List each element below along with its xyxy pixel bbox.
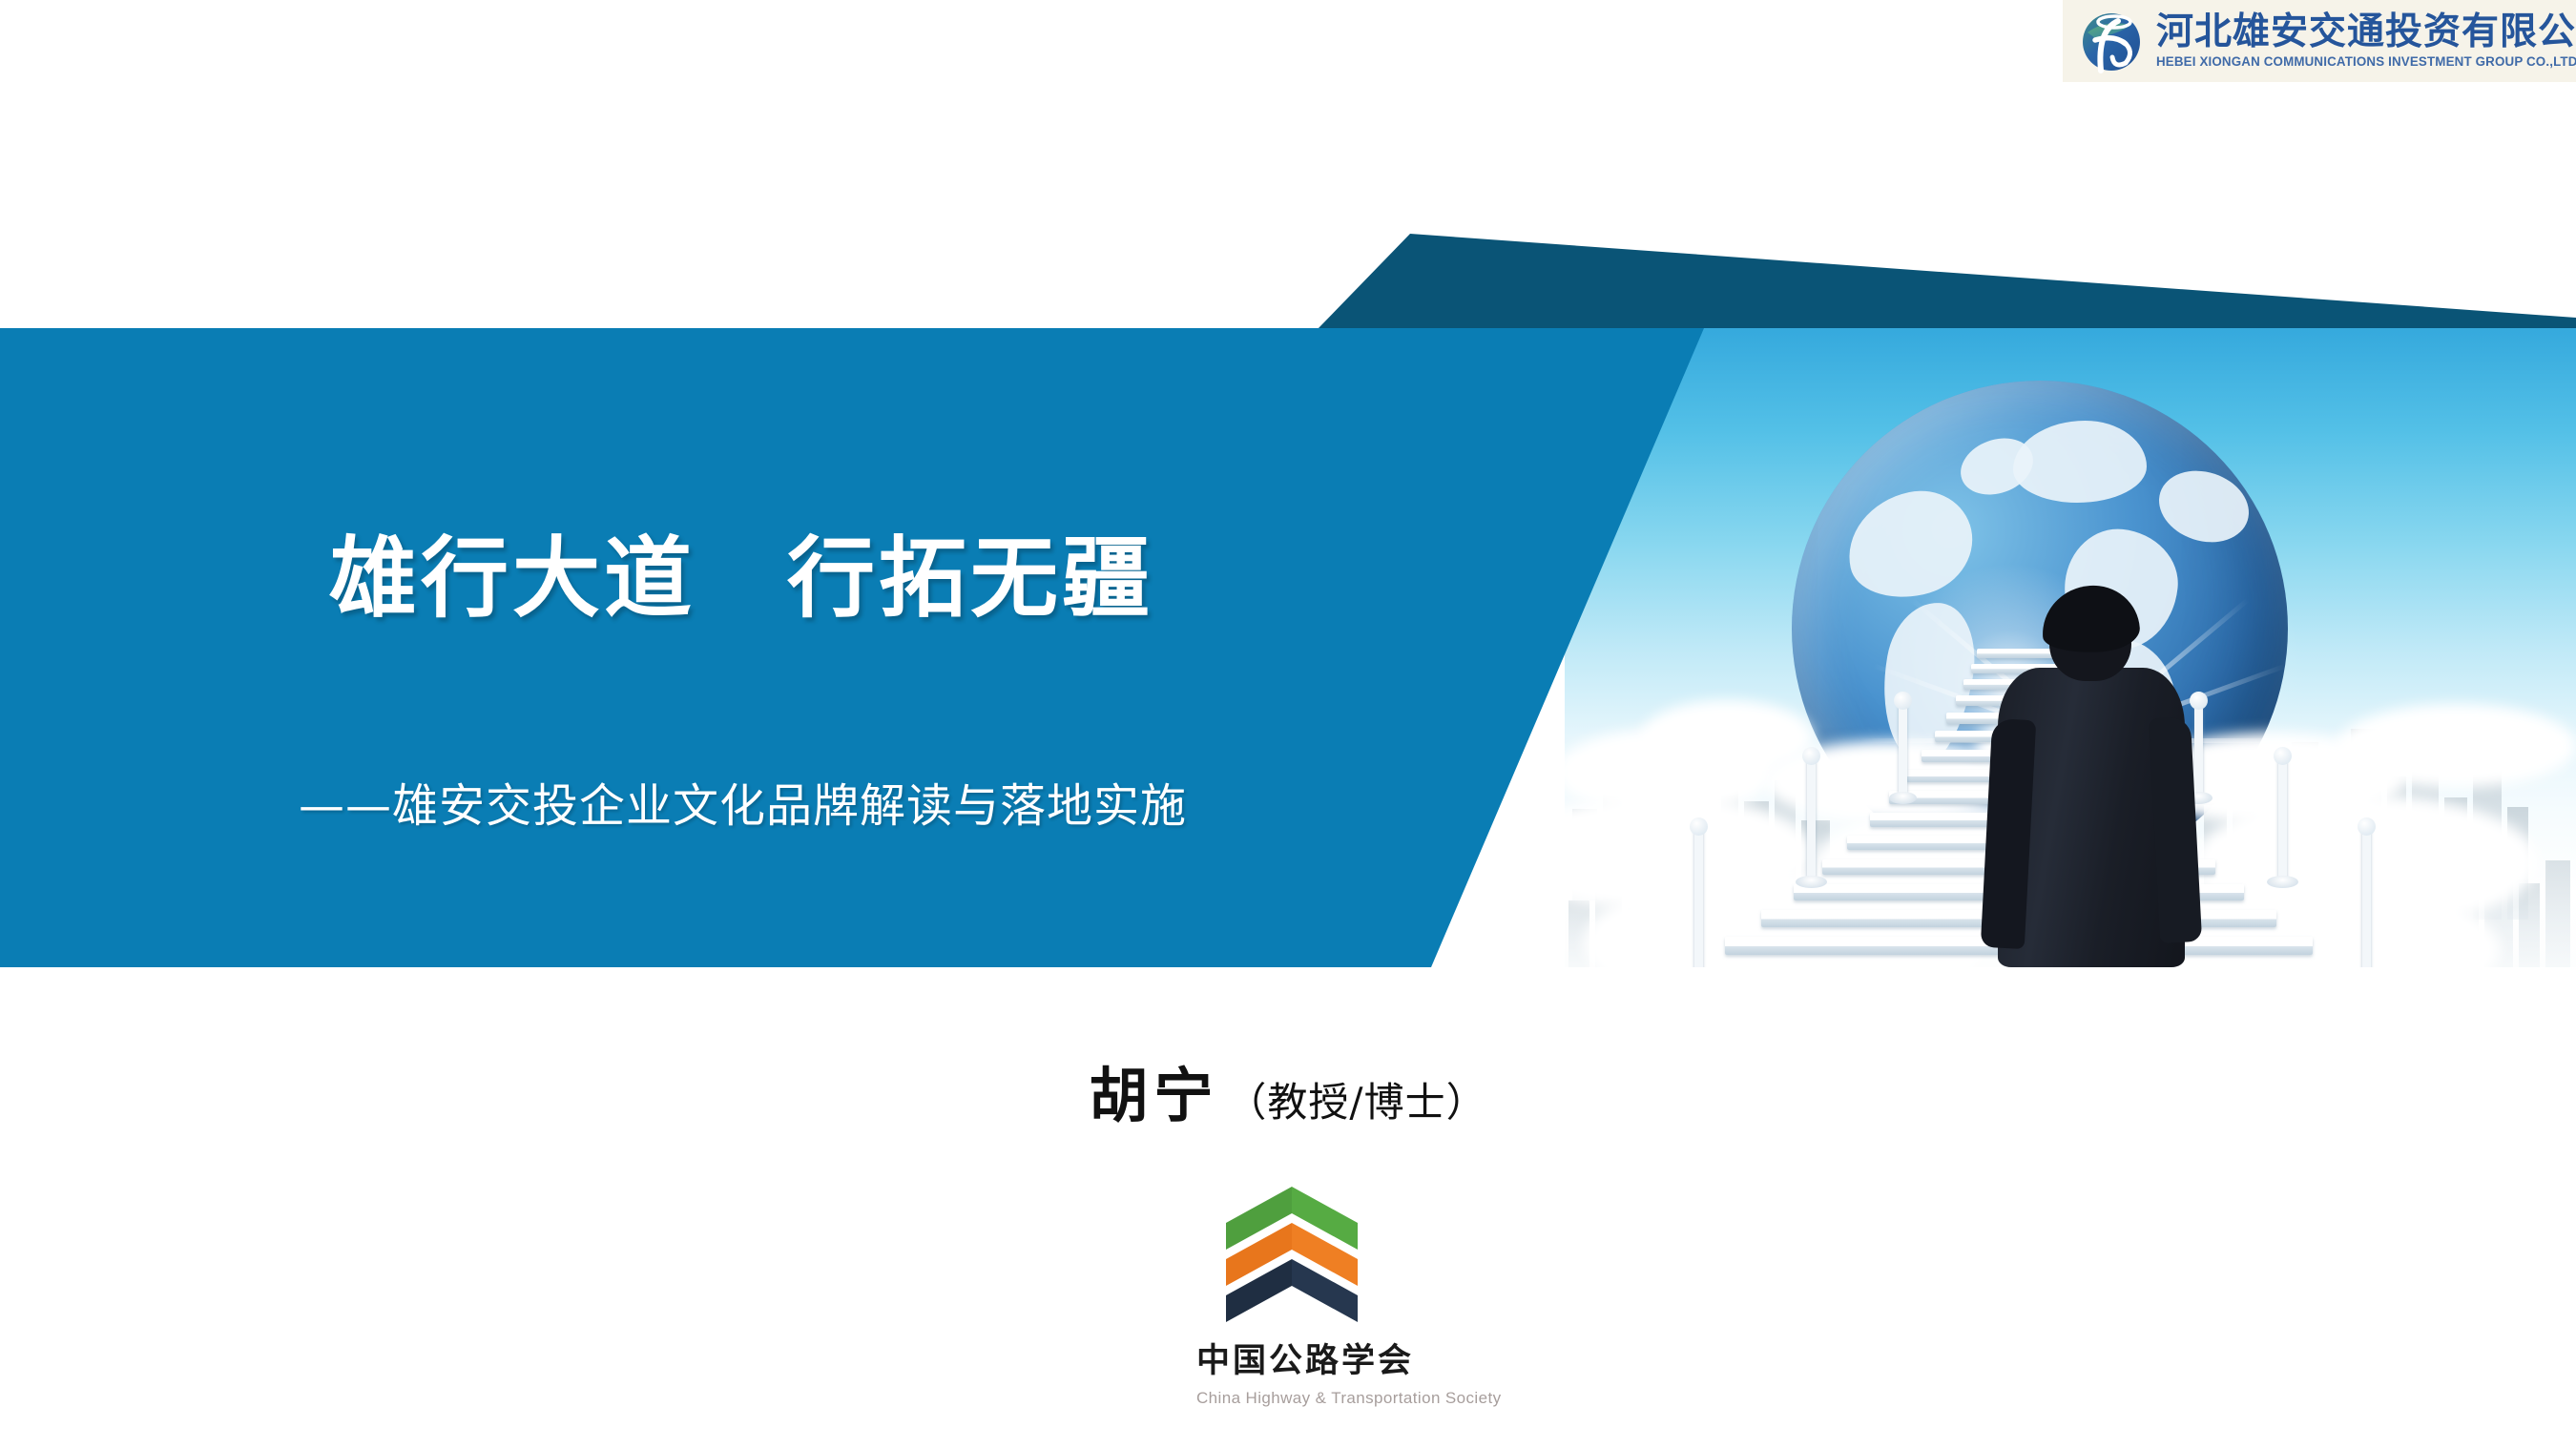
slide-title: 雄行大道 行拓无疆 xyxy=(329,507,1153,634)
decorative-wedge xyxy=(1317,234,2576,330)
china-highway-society-cube-icon xyxy=(1220,1181,1363,1324)
speaker-credentials: （教授/博士） xyxy=(1226,1079,1486,1126)
corporate-logo: 河北雄安交通投资有限公司 HEBEI XIONGAN COMMUNICATION… xyxy=(2063,0,2576,82)
corporate-logo-text: 河北雄安交通投资有限公司 HEBEI XIONGAN COMMUNICATION… xyxy=(2156,13,2576,69)
speaker-line: 胡宁（教授/博士） xyxy=(0,1047,2576,1133)
society-name-en: China Highway & Transportation Society xyxy=(1196,1389,1387,1408)
blue-title-panel xyxy=(0,328,1704,967)
speaker-name: 胡宁 xyxy=(1089,1061,1218,1130)
corporate-name-cn: 河北雄安交通投资有限公司 xyxy=(2156,13,2576,51)
title-banner xyxy=(0,328,2576,967)
hebei-xiongan-emblem-icon xyxy=(2076,6,2147,76)
businessman-figure xyxy=(1981,593,2200,967)
slide-subtitle: ——雄安交投企业文化品牌解读与落地实施 xyxy=(299,768,1187,835)
corporate-name-en: HEBEI XIONGAN COMMUNICATIONS INVESTMENT … xyxy=(2156,55,2576,69)
society-name-cn: 中国公路学会 xyxy=(1196,1334,1387,1382)
presentation-title-slide: 河北雄安交通投资有限公司 HEBEI XIONGAN COMMUNICATION… xyxy=(0,0,2576,1448)
society-logo: 中国公路学会 China Highway & Transportation So… xyxy=(1196,1181,1387,1408)
hero-photo xyxy=(1565,328,2576,967)
